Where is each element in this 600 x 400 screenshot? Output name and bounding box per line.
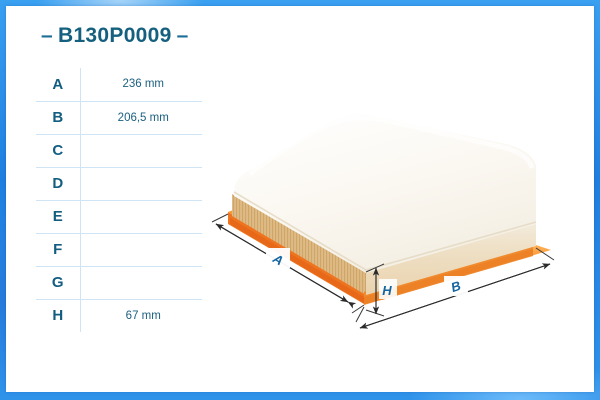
spec-key: B xyxy=(36,101,80,134)
table-row: H 67 mm xyxy=(36,299,202,332)
spec-value xyxy=(80,167,202,200)
table-row: G xyxy=(36,266,202,299)
product-illustration: A B H xyxy=(206,64,594,364)
title-dash-left: – xyxy=(36,24,58,47)
spec-table: A 236 mm B 206,5 mm C D E xyxy=(36,68,202,332)
content-card: –B130P0009– A 236 mm B 206,5 mm C D xyxy=(6,6,594,392)
spec-value xyxy=(80,266,202,299)
spec-key: D xyxy=(36,167,80,200)
table-row: D xyxy=(36,167,202,200)
table-row: C xyxy=(36,134,202,167)
product-code: B130P0009 xyxy=(58,24,172,47)
table-row: E xyxy=(36,200,202,233)
spec-key: H xyxy=(36,299,80,332)
page-title: –B130P0009– xyxy=(36,24,194,48)
spec-key: A xyxy=(36,68,80,101)
spec-value xyxy=(80,233,202,266)
spec-value: 236 mm xyxy=(80,68,202,101)
table-row: B 206,5 mm xyxy=(36,101,202,134)
spec-value: 206,5 mm xyxy=(80,101,202,134)
spec-key: G xyxy=(36,266,80,299)
filter-body xyxy=(228,114,551,305)
spec-value xyxy=(80,200,202,233)
product-spec-page: –B130P0009– A 236 mm B 206,5 mm C D xyxy=(0,0,600,400)
table-row: A 236 mm xyxy=(36,68,202,101)
title-dash-right: – xyxy=(172,24,194,47)
spec-table-body: A 236 mm B 206,5 mm C D E xyxy=(36,68,202,332)
spec-key: E xyxy=(36,200,80,233)
spec-key: C xyxy=(36,134,80,167)
table-row: F xyxy=(36,233,202,266)
spec-value: 67 mm xyxy=(80,299,202,332)
spec-key: F xyxy=(36,233,80,266)
dimension-label-h: H xyxy=(382,283,392,298)
spec-value xyxy=(80,134,202,167)
